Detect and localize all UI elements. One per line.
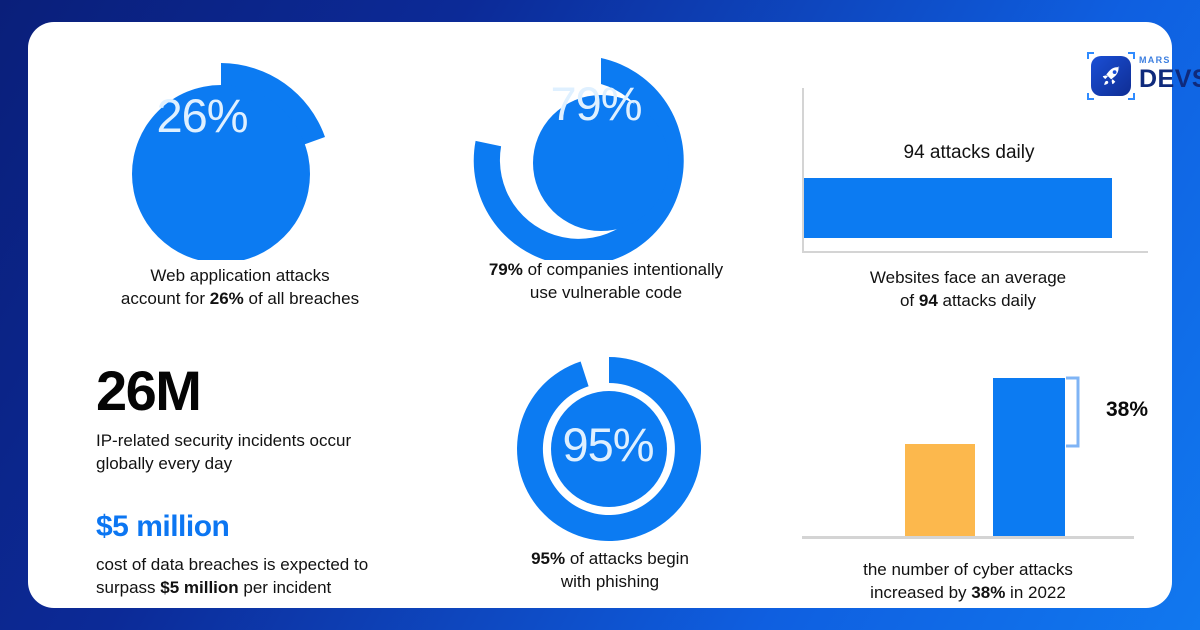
caption-highlight: 79% — [489, 260, 523, 279]
brand-name-small: MARS — [1139, 56, 1200, 65]
stat-card-vulnerable-code: 79% 79% of companies intentionally use v… — [456, 30, 756, 305]
caption-phishing: 95% of attacks begin with phishing — [460, 547, 760, 594]
caption-line-2-pre: account for — [121, 289, 210, 308]
stat-card-phishing: 95% 95% of attacks begin with phishing — [460, 340, 760, 594]
bar-chart-baseline — [802, 536, 1134, 539]
bracket-label-38-percent: 38% — [1106, 398, 1148, 422]
donut-center-value: 26% — [52, 0, 352, 230]
caption-line-2-post: of all breaches — [244, 289, 359, 308]
stat-card-breach-cost: $5 million cost of data breaches is expe… — [96, 510, 426, 600]
desc-line-2-pre: surpass — [96, 578, 160, 597]
stat-card-web-application-attacks: 26% Web application attacks account for … — [90, 30, 390, 311]
caption-line-1-post: of companies intentionally — [523, 260, 723, 279]
caption-highlight: 95% — [531, 549, 565, 568]
stat-card-attacks-daily: 94 attacks daily Websites face an averag… — [788, 30, 1148, 313]
bracket-icon — [1064, 376, 1098, 448]
cyber-attacks-bar-chart: 38% — [788, 352, 1148, 552]
stat-description-ip-incidents: IP-related security incidents occur glob… — [96, 429, 426, 476]
bar-chart-value-label: 94 attacks daily — [804, 142, 1134, 164]
phishing-donut: 95% — [460, 340, 760, 545]
caption-line-1: the number of cyber attacks — [863, 560, 1073, 579]
caption-highlight: 26% — [210, 289, 244, 308]
caption-vulnerable-code: 79% of companies intentionally use vulne… — [456, 258, 756, 305]
desc-line-1: IP-related security incidents occur — [96, 431, 351, 450]
caption-line-1: Web application attacks — [150, 266, 329, 285]
caption-line-2: with phishing — [561, 572, 659, 591]
bar-chart-x-axis — [802, 251, 1148, 253]
caption-line-1: Websites face an average — [870, 268, 1066, 287]
caption-web-application-attacks: Web application attacks account for 26% … — [90, 264, 390, 311]
attacks-daily-bar-chart: 94 attacks daily — [788, 30, 1148, 260]
caption-highlight: 94 — [919, 291, 938, 310]
caption-attacks-daily: Websites face an average of 94 attacks d… — [788, 266, 1148, 313]
donut-center-value: 79% — [446, 0, 746, 218]
caption-highlight: 38% — [971, 583, 1005, 602]
web-application-attacks-donut: 26% — [90, 30, 390, 260]
caption-line-2-post: in 2022 — [1005, 583, 1066, 602]
desc-highlight: $5 million — [160, 578, 238, 597]
stat-value-5-million: $5 million — [96, 510, 426, 543]
brand-name-main: DEVS — [1139, 67, 1200, 92]
desc-line-2: globally every day — [96, 454, 232, 473]
donut-center-value: 95% — [458, 342, 758, 547]
caption-line-2-pre: of — [900, 291, 919, 310]
bar-2021 — [905, 444, 975, 536]
caption-line-2-pre: increased by — [870, 583, 971, 602]
brand-logo-text: MARS DEVS — [1139, 56, 1200, 92]
bar-2022 — [993, 378, 1065, 536]
caption-line-2: use vulnerable code — [530, 283, 682, 302]
infographic-frame: MARS DEVS 26% Web application attacks ac… — [0, 0, 1200, 630]
stat-card-cyber-increase: 38% the number of cyber attacks increase… — [788, 352, 1148, 605]
stat-value-26m: 26M — [96, 362, 426, 421]
infographic-card: MARS DEVS 26% Web application attacks ac… — [28, 22, 1172, 608]
stat-description-breach-cost: cost of data breaches is expected to sur… — [96, 553, 426, 600]
bar-attacks-daily — [804, 178, 1112, 238]
desc-line-2-post: per incident — [239, 578, 332, 597]
caption-line-2-post: attacks daily — [938, 291, 1036, 310]
stat-card-ip-incidents: 26M IP-related security incidents occur … — [96, 362, 426, 476]
caption-cyber-increase: the number of cyber attacks increased by… — [788, 558, 1148, 605]
desc-line-1: cost of data breaches is expected to — [96, 555, 368, 574]
vulnerable-code-donut: 79% — [456, 30, 756, 260]
caption-line-1-post: of attacks begin — [565, 549, 689, 568]
